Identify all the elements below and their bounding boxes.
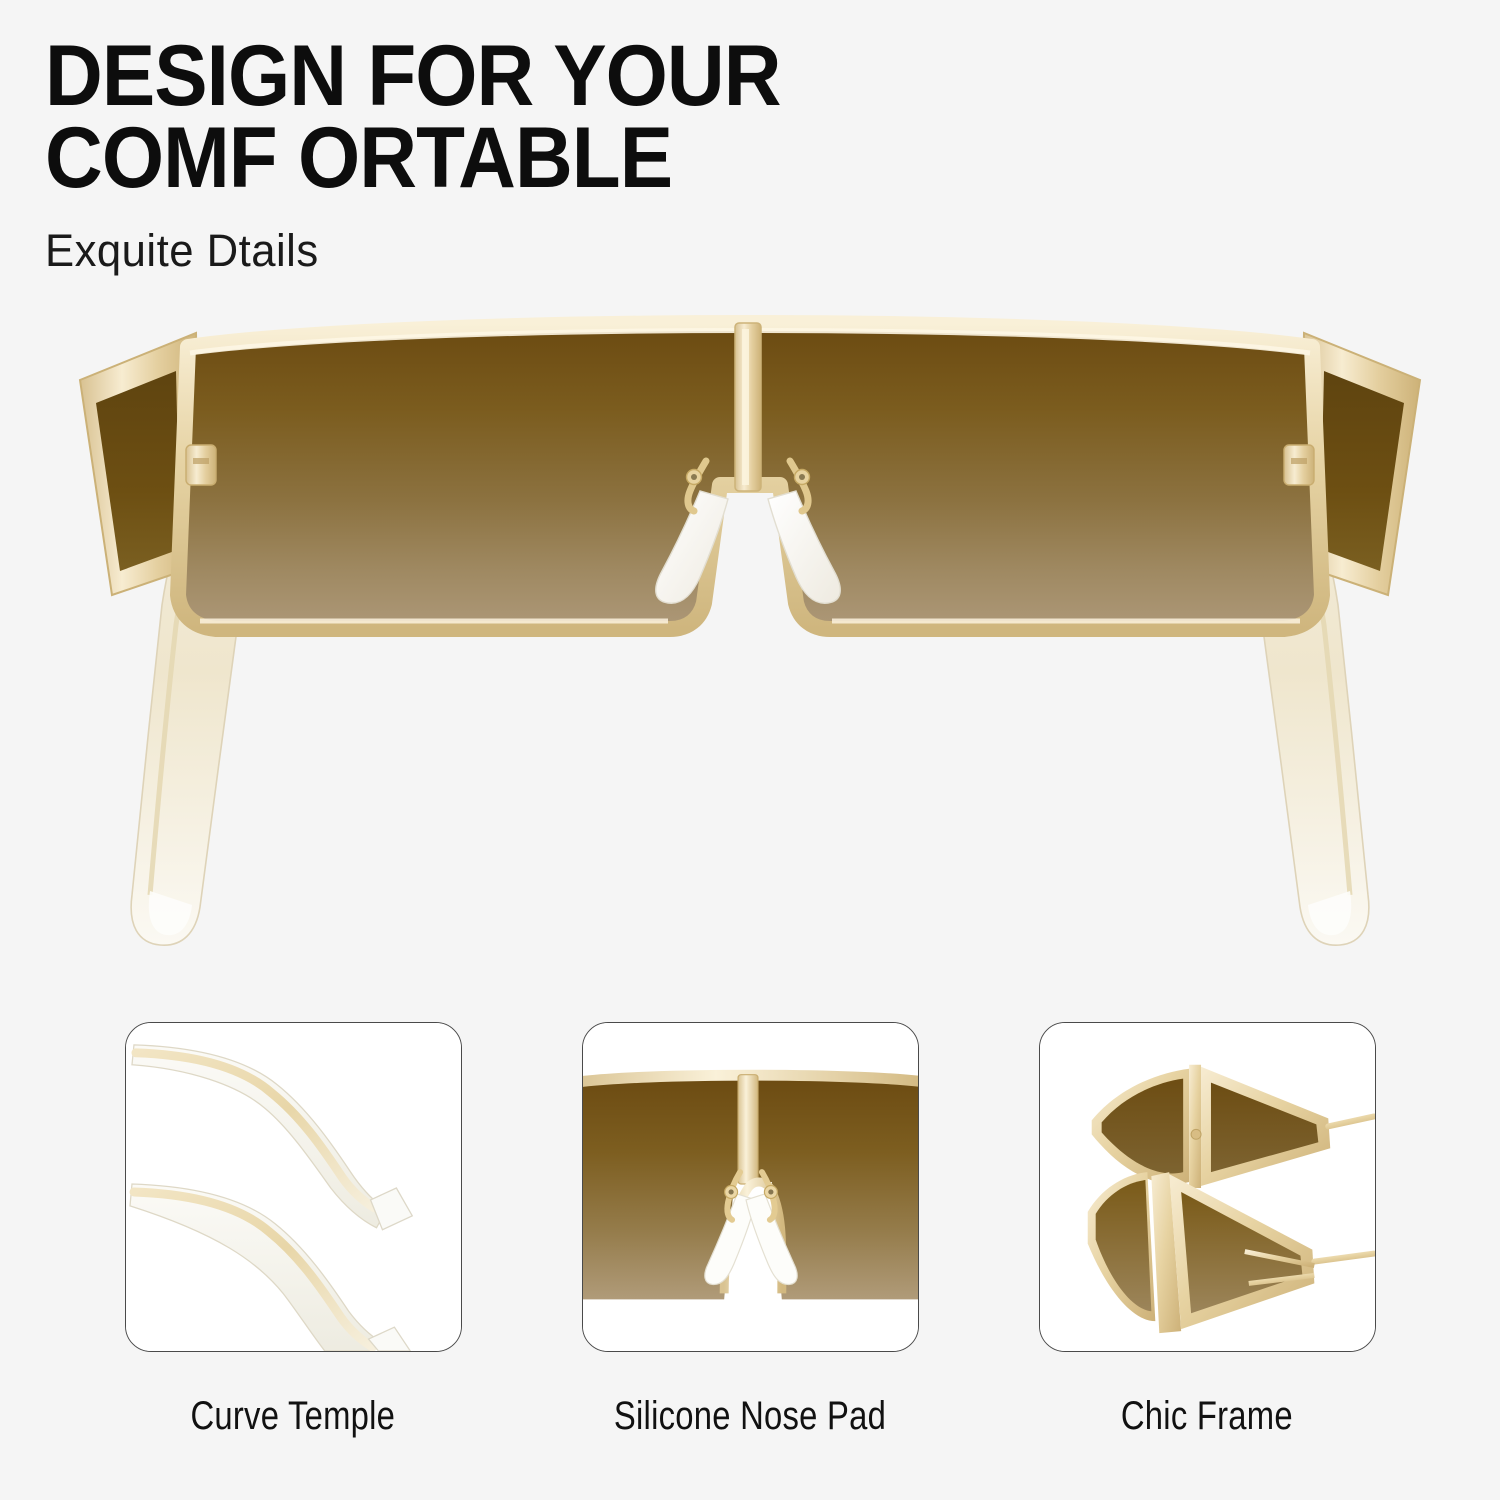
- left-hinge: [186, 445, 216, 485]
- chic-frame-card-image: [1039, 1022, 1376, 1352]
- headline-line-1: DESIGN FOR YOUR: [45, 36, 1161, 118]
- hero-product-image: [0, 295, 1500, 995]
- feature-card-row: Curve Temple: [0, 1022, 1500, 1439]
- card-caption-silicone-nose-pad: Silicone Nose Pad: [614, 1394, 886, 1439]
- header-block: DESIGN FOR YOUR COMF ORTABLE Exquite Dta…: [45, 36, 1245, 277]
- feature-card-curve-temple[interactable]: Curve Temple: [125, 1022, 462, 1439]
- feature-card-silicone-nose-pad[interactable]: Silicone Nose Pad: [582, 1022, 919, 1439]
- card-caption-curve-temple: Curve Temple: [191, 1394, 396, 1439]
- feature-card-chic-frame[interactable]: Chic Frame: [1039, 1022, 1376, 1439]
- card-caption-chic-frame: Chic Frame: [1121, 1394, 1293, 1439]
- nose-pad-card-image: [582, 1022, 919, 1352]
- subheadline: Exquite Dtails: [45, 225, 1209, 277]
- headline-line-2: COMF ORTABLE: [45, 118, 1161, 200]
- center-bridge-bar: [735, 323, 761, 491]
- curve-temple-card-image: [125, 1022, 462, 1352]
- right-hinge: [1284, 445, 1314, 485]
